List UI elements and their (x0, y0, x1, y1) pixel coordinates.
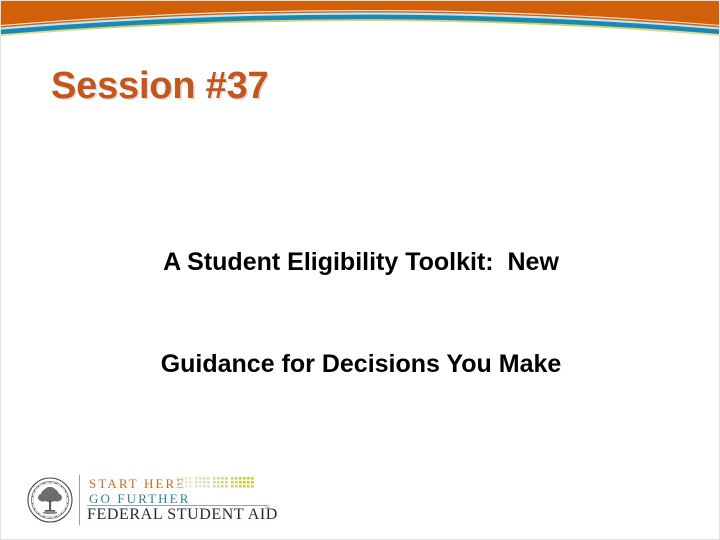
federal-student-aid-logo: START HERE GO FURTHER (27, 475, 267, 527)
page-title: Session #37 (51, 65, 671, 108)
subtitle-line-2: Guidance for Decisions You Make (61, 347, 661, 381)
logo-tagline-start-here: START HERE (89, 476, 186, 492)
header-banner (1, 1, 720, 43)
presentation-slide: Session #37 A Student Eligibility Toolki… (0, 0, 720, 540)
subtitle-line-1: A Student Eligibility Toolkit: New (61, 245, 661, 279)
logo-wordmark: START HERE GO FURTHER (79, 475, 267, 527)
registered-trademark-icon: ® (265, 504, 270, 512)
dot-matrix-graphic-icon (177, 477, 265, 489)
curved-arc-banner-icon (1, 1, 720, 43)
department-of-education-seal-icon (27, 477, 73, 523)
logo-organization-name: FEDERAL STUDENT AID (87, 506, 278, 524)
